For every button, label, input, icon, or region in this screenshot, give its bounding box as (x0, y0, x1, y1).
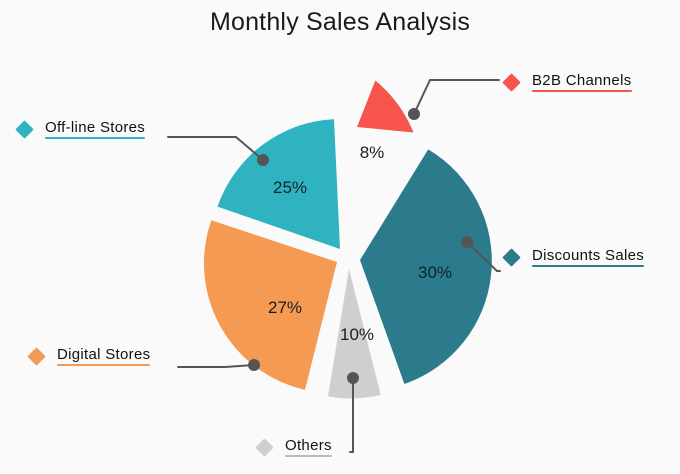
diamond-icon (27, 347, 45, 365)
diamond-icon (502, 73, 520, 91)
legend-label-wrap-offline-stores: Off-line Stores (45, 119, 145, 139)
legend-label-digital-stores: Digital Stores (57, 346, 150, 363)
legend-item-digital-stores[interactable]: Digital Stores (30, 346, 150, 366)
legend-label-b2b-channels: B2B Channels (532, 72, 632, 89)
slice-value-others: 10% (340, 325, 374, 344)
leader-dot-others (347, 372, 359, 384)
diamond-icon (502, 248, 520, 266)
leader-line-offline-stores (168, 137, 263, 160)
legend-label-wrap-discounts-sales: Discounts Sales (532, 247, 644, 267)
slice-value-digital-stores: 27% (268, 298, 302, 317)
diamond-icon (15, 120, 33, 138)
legend-underline-offline-stores (45, 137, 145, 139)
legend-item-discounts-sales[interactable]: Discounts Sales (505, 247, 644, 267)
leader-dot-discounts-sales (461, 236, 473, 248)
leader-line-b2b-channels (414, 80, 499, 114)
slice-value-discounts-sales: 30% (418, 263, 452, 282)
legend-label-offline-stores: Off-line Stores (45, 119, 145, 136)
diamond-icon (255, 438, 273, 456)
legend-underline-discounts-sales (532, 265, 644, 267)
pie-slice-b2b-channels[interactable] (357, 81, 414, 133)
legend-label-wrap-b2b-channels: B2B Channels (532, 72, 632, 92)
legend-label-wrap-digital-stores: Digital Stores (57, 346, 150, 366)
slice-value-offline-stores: 25% (273, 178, 307, 197)
leader-dot-offline-stores (257, 154, 269, 166)
leader-line-digital-stores (178, 365, 254, 367)
legend-underline-others (285, 455, 332, 457)
legend-label-others: Others (285, 437, 332, 454)
legend-underline-digital-stores (57, 364, 150, 366)
leader-dot-digital-stores (248, 359, 260, 371)
legend-item-others[interactable]: Others (258, 437, 332, 457)
legend-item-b2b-channels[interactable]: B2B Channels (505, 72, 632, 92)
slice-value-b2b-channels: 8% (360, 143, 385, 162)
legend-item-offline-stores[interactable]: Off-line Stores (18, 119, 145, 139)
legend-label-wrap-others: Others (285, 437, 332, 457)
leader-dot-b2b-channels (408, 108, 420, 120)
legend-underline-b2b-channels (532, 90, 632, 92)
legend-label-discounts-sales: Discounts Sales (532, 247, 644, 264)
pie-chart-figure: Monthly Sales Analysis 8% 25% 30% 27% 10… (0, 0, 680, 474)
